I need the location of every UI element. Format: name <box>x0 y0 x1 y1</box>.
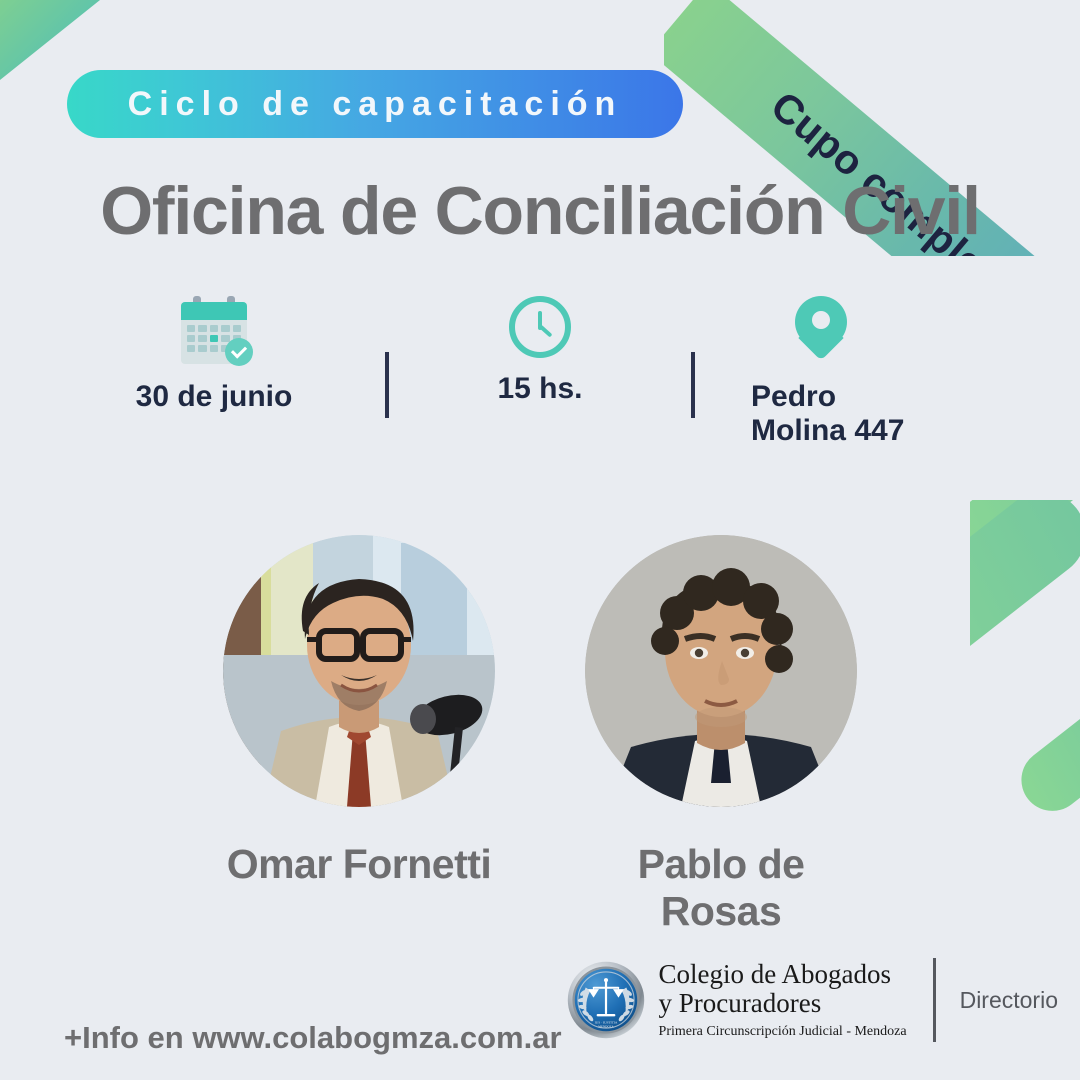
info-divider <box>691 352 695 418</box>
info-item-address: Pedro Molina 447 <box>751 296 981 447</box>
calendar-check-badge <box>225 338 253 366</box>
info-item-time: 15 hs. <box>445 296 635 406</box>
organization-name: Colegio de Abogados y Procuradores Prime… <box>659 960 907 1040</box>
calendar-icon <box>177 296 251 366</box>
org-subtitle: Primera Circunscripción Judicial - Mendo… <box>659 1024 907 1040</box>
info-divider <box>385 352 389 418</box>
info-item-date: 30 de junio <box>99 296 329 414</box>
page-title: Oficina de Conciliación Civil <box>0 172 1080 250</box>
directory-label: Directorio <box>960 987 1058 1014</box>
event-info-row: 30 de junio 15 hs. Pedro Molina 447 <box>0 296 1080 466</box>
organization-logo-block: IUS · IUSTITIA MENDOZA Colegio de Abogad… <box>567 958 1058 1042</box>
clock-icon <box>509 296 571 358</box>
course-series-badge: Ciclo de capacitación <box>67 70 683 138</box>
logo-divider <box>933 958 936 1042</box>
event-time-label: 15 hs. <box>497 372 582 406</box>
speaker-photo-2 <box>585 535 857 807</box>
corner-decoration-left <box>0 0 100 80</box>
svg-text:MENDOZA: MENDOZA <box>598 1025 614 1029</box>
org-name-line1: Colegio de Abogados <box>659 960 907 989</box>
badge-label: Ciclo de capacitación <box>128 85 623 124</box>
speaker-photos <box>0 535 1080 807</box>
more-info-url[interactable]: +Info en www.colabogmza.com.ar <box>64 1020 562 1056</box>
svg-text:IUS · IUSTITIA: IUS · IUSTITIA <box>594 1020 617 1024</box>
event-date-label: 30 de junio <box>136 380 293 414</box>
speaker-name-1: Omar Fornetti <box>223 841 495 935</box>
org-name-line2: y Procuradores <box>659 989 907 1018</box>
speaker-photo-1 <box>223 535 495 807</box>
speaker-name-2: Pablo de Rosas <box>585 841 857 935</box>
speaker-portrait-omar-fornetti <box>223 535 495 807</box>
speaker-names: Omar Fornetti Pablo de Rosas <box>0 841 1080 935</box>
event-address-label: Pedro Molina 447 <box>751 380 904 447</box>
speaker-portrait-pablo-de-rosas <box>585 535 857 807</box>
scales-of-justice-seal-icon: IUS · IUSTITIA MENDOZA <box>567 961 645 1039</box>
speakers-section: Omar Fornetti Pablo de Rosas <box>0 535 1080 935</box>
location-pin-icon <box>795 296 847 366</box>
